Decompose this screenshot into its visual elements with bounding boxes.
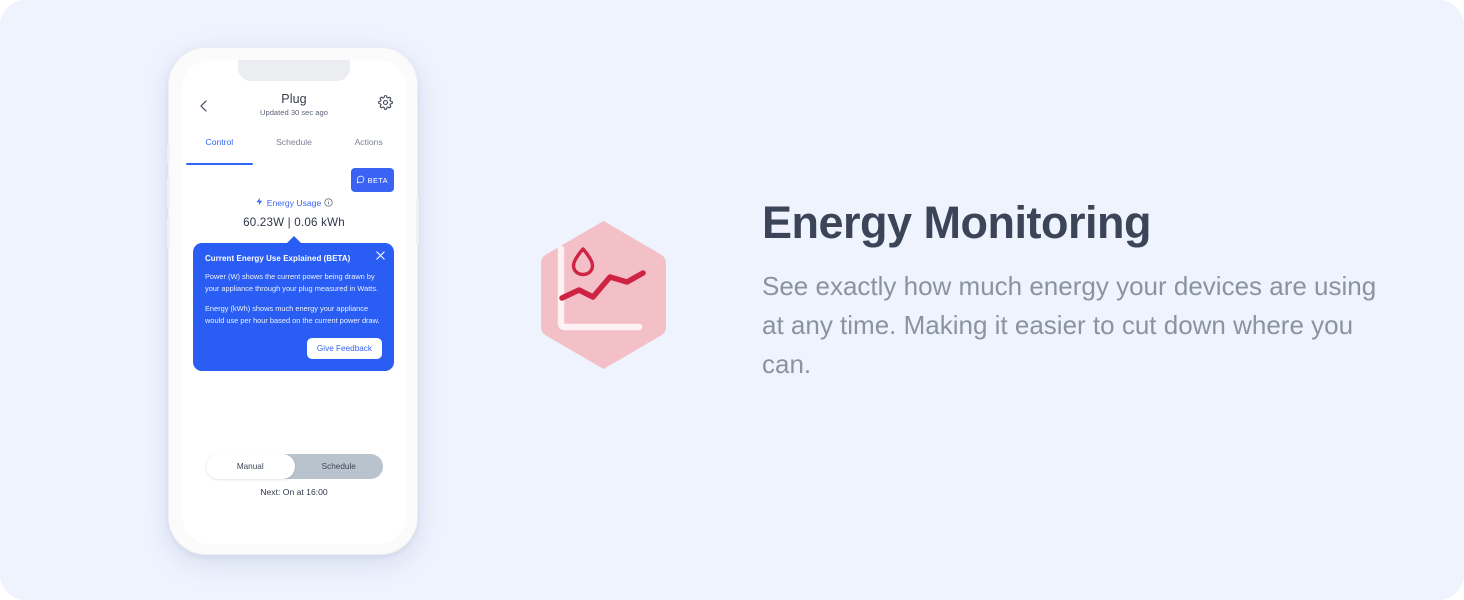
phone-silent-switch[interactable] [167, 145, 170, 163]
info-circle-icon[interactable] [324, 194, 333, 212]
lightning-bolt-icon [255, 194, 264, 212]
energy-usage-label-row: Energy Usage [255, 194, 333, 212]
phone-power-button[interactable] [416, 198, 419, 244]
page-title: Plug [182, 92, 406, 106]
close-icon[interactable] [375, 248, 386, 259]
mode-option-schedule[interactable]: Schedule [295, 454, 384, 479]
tooltip-paragraph-energy: Energy (kWh) shows much energy your appl… [205, 303, 382, 326]
tab-schedule-label: Schedule [276, 137, 312, 147]
feature-heading: Energy Monitoring [762, 200, 1382, 245]
tab-actions-label: Actions [355, 137, 383, 147]
tab-bar: Control Schedule Actions [182, 136, 406, 160]
mode-option-manual[interactable]: Manual [206, 454, 295, 479]
phone-volume-up-button[interactable] [167, 178, 170, 208]
energy-explanation-tooltip: Current Energy Use Explained (BETA) Powe… [193, 243, 394, 371]
phone-notch [238, 60, 350, 81]
beta-badge[interactable]: BETA [351, 168, 394, 192]
give-feedback-button[interactable]: Give Feedback [307, 338, 382, 359]
energy-usage-block: Energy Usage 60.23W | 0.06 kWh [182, 194, 406, 229]
promo-banner: Plug Updated 30 sec ago Control [0, 0, 1464, 600]
gear-icon[interactable] [378, 95, 393, 110]
tooltip-title: Current Energy Use Explained (BETA) [205, 254, 382, 263]
energy-chart-hexagon-icon [535, 219, 672, 371]
phone-volume-down-button[interactable] [167, 218, 170, 248]
mode-toggle: Manual Schedule [206, 454, 383, 479]
tab-control[interactable]: Control [182, 136, 257, 160]
tooltip-footer: Give Feedback [205, 338, 382, 359]
tab-active-indicator [186, 163, 253, 165]
feature-text-block: Energy Monitoring See exactly how much e… [762, 200, 1382, 384]
energy-usage-label: Energy Usage [267, 198, 321, 208]
beta-badge-label: BETA [368, 176, 388, 185]
energy-usage-value: 60.23W | 0.06 kWh [182, 216, 406, 229]
tooltip-paragraph-power: Power (W) shows the current power being … [205, 271, 382, 294]
tab-schedule[interactable]: Schedule [257, 136, 332, 160]
phone-mockup: Plug Updated 30 sec ago Control [168, 47, 418, 555]
tooltip-arrow [286, 236, 302, 244]
tab-control-label: Control [205, 137, 233, 147]
feature-body: See exactly how much energy your devices… [762, 267, 1382, 384]
phone-screen: Plug Updated 30 sec ago Control [182, 60, 406, 544]
tab-actions[interactable]: Actions [331, 136, 406, 160]
header-title-block: Plug Updated 30 sec ago [182, 92, 406, 117]
app-header: Plug Updated 30 sec ago [182, 92, 406, 124]
phone-body: Plug Updated 30 sec ago Control [168, 47, 418, 555]
next-schedule-text: Next: On at 16:00 [182, 487, 406, 497]
header-subtitle: Updated 30 sec ago [182, 108, 406, 117]
chat-bubble-icon [356, 171, 365, 189]
